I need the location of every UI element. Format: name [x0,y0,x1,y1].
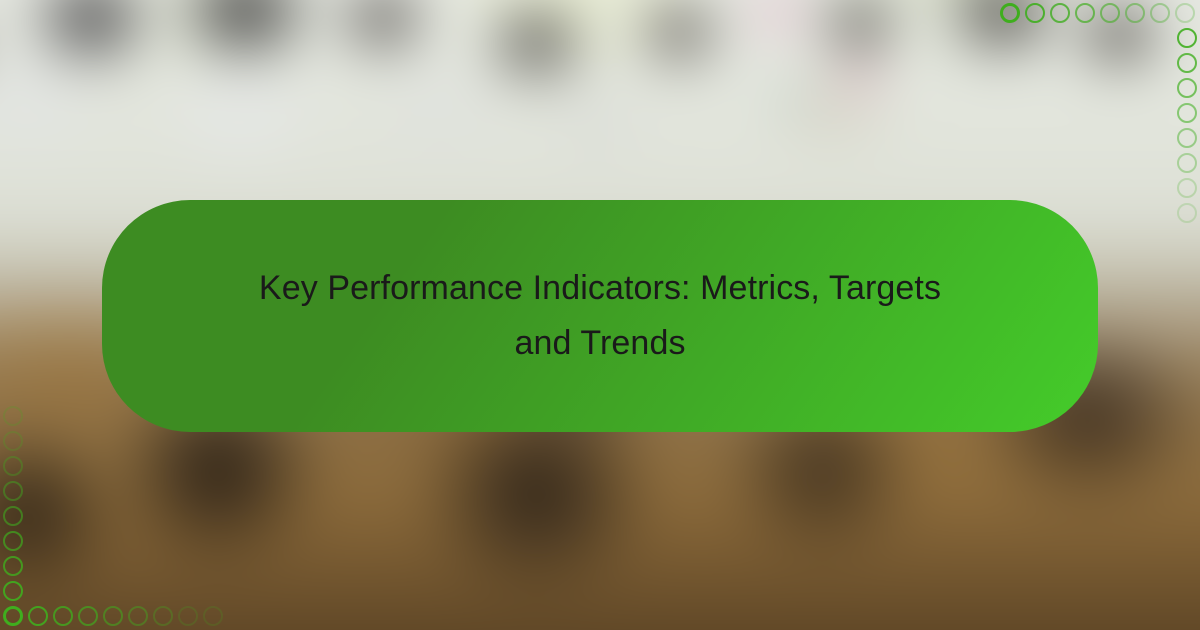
decorative-circle [128,606,148,626]
decorative-dots-left-column [0,406,26,630]
decorative-circle [1075,3,1095,23]
decorative-circle [1177,53,1197,73]
decorative-dots-right-column [1174,0,1200,220]
decorative-circle [3,556,23,576]
decorative-circle [1150,3,1170,23]
decorative-circle [103,606,123,626]
decorative-dots-top-right [1000,0,1200,26]
slide-canvas: Key Performance Indicators: Metrics, Tar… [0,0,1200,630]
decorative-circle [3,406,23,426]
decorative-circle [153,606,173,626]
decorative-circle [1125,3,1145,23]
decorative-circle [3,531,23,551]
decorative-circle [203,606,223,626]
decorative-dots-bottom-row [0,602,235,630]
decorative-circle [1177,128,1197,148]
decorative-circle [1177,178,1197,198]
decorative-circle [78,606,98,626]
decorative-circle [1177,78,1197,98]
decorative-circle [53,606,73,626]
decorative-circle [3,606,23,626]
decorative-circle [178,606,198,626]
decorative-circle [1177,153,1197,173]
decorative-circle [1100,3,1120,23]
decorative-circle [3,506,23,526]
decorative-circle [1000,3,1020,23]
title-card: Key Performance Indicators: Metrics, Tar… [102,200,1098,432]
decorative-circle [3,481,23,501]
decorative-circle [1050,3,1070,23]
decorative-circle [1177,203,1197,223]
page-title: Key Performance Indicators: Metrics, Tar… [259,261,941,371]
decorative-circle [1177,28,1197,48]
decorative-circle [3,456,23,476]
decorative-circle [28,606,48,626]
decorative-circle [1177,103,1197,123]
decorative-circle [3,431,23,451]
decorative-circle [3,581,23,601]
decorative-circle [1025,3,1045,23]
